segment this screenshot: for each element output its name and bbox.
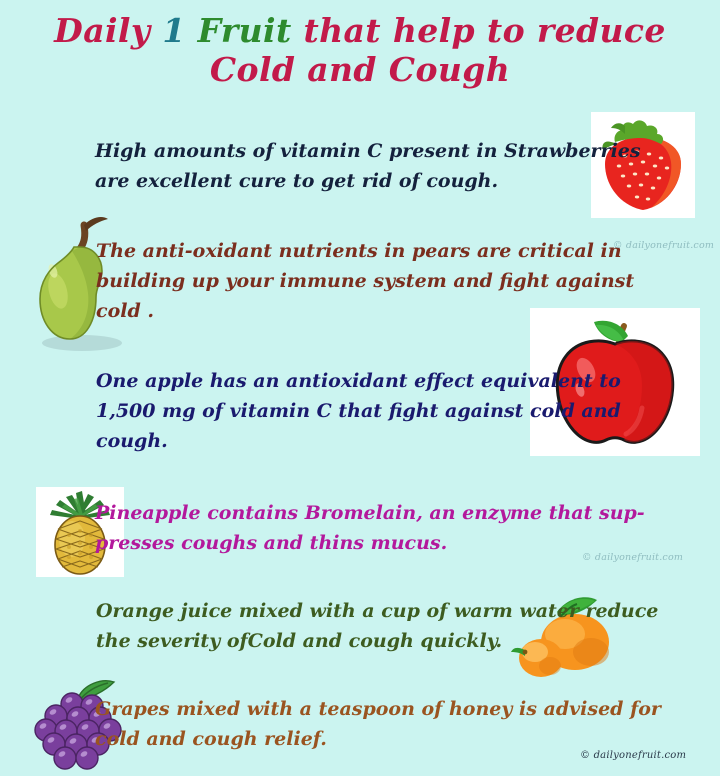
watermark-top: © dailyonefruit.com <box>613 240 714 251</box>
watermark-middle: © dailyonefruit.com <box>582 552 683 563</box>
pear-text-line-3: cold . <box>96 296 606 326</box>
pear-text-line-2: building up your immune system and fight… <box>96 266 606 296</box>
strawberry-text-line-2: are excellent cure to get rid of cough. <box>95 166 615 196</box>
grapes-text: Grapes mixed with a teaspoon of honey is… <box>95 694 625 754</box>
pear-text-line-1: The anti-oxidant nutrients in pears are … <box>96 236 606 266</box>
title-phrase-that-help-to-reduce: that help to reduce <box>303 11 665 50</box>
pear-text: The anti-oxidant nutrients in pears are … <box>96 236 606 326</box>
infographic-poster: Daily 1 Fruit that help to reduce Cold a… <box>0 0 720 776</box>
apple-text-line-3: cough. <box>96 426 606 456</box>
poster-title: Daily 1 Fruit that help to reduce Cold a… <box>0 12 720 90</box>
title-line-2: Cold and Cough <box>0 51 720 90</box>
title-word-one: 1 <box>162 11 197 50</box>
orange-text-line-2: the severity ofCold and cough quickly. <box>96 626 596 656</box>
orange-text-line-1: Orange juice mixed with a cup of warm wa… <box>96 596 596 626</box>
title-word-fruit: Fruit <box>198 11 304 50</box>
pineapple-text: Pineapple contains Bromelain, an enzyme … <box>95 498 565 558</box>
title-line-1: Daily 1 Fruit that help to reduce <box>0 12 720 51</box>
strawberry-text-line-1: High amounts of vitamin C present in Str… <box>95 136 615 166</box>
apple-text: One apple has an antioxidant effect equi… <box>96 366 606 456</box>
pineapple-text-line-2: presses coughs and thins mucus. <box>95 528 565 558</box>
title-word-daily: Daily <box>54 11 162 50</box>
apple-text-line-2: 1,500 mg of vitamin C that fight against… <box>96 396 606 426</box>
watermark-bottom: © dailyonefruit.com <box>580 750 686 761</box>
grapes-text-line-2: cold and cough relief. <box>95 724 625 754</box>
orange-text: Orange juice mixed with a cup of warm wa… <box>96 596 596 656</box>
apple-text-line-1: One apple has an antioxidant effect equi… <box>96 366 606 396</box>
strawberry-text: High amounts of vitamin C present in Str… <box>95 136 615 196</box>
pineapple-text-line-1: Pineapple contains Bromelain, an enzyme … <box>95 498 565 528</box>
grapes-text-line-1: Grapes mixed with a teaspoon of honey is… <box>95 694 625 724</box>
